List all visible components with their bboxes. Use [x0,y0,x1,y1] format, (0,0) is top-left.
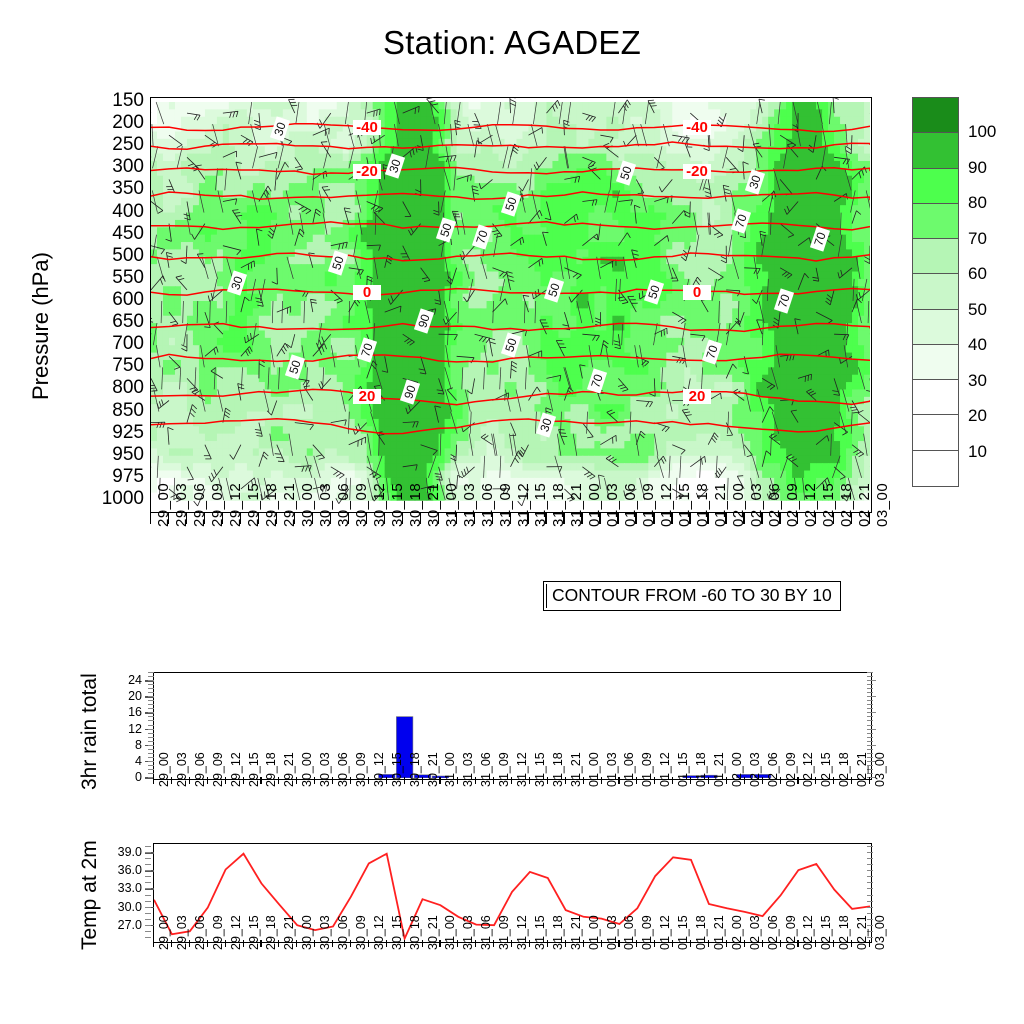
axis-minor-tick [867,749,873,750]
time-tick-label: 30_09 [355,752,368,787]
axis-minor-tick [145,858,151,859]
axis-minor-tick [148,729,154,730]
axis-tick [581,513,582,524]
axis-tick [815,777,816,784]
time-tick-label: 29_21 [283,752,296,787]
pressure-tick-label: 800 [72,378,144,397]
pressure-tick-label: 550 [72,268,144,287]
time-tick-label: 29_06 [194,915,207,950]
axis-tick [438,513,439,524]
time-tick-label: 31_06 [480,752,493,787]
time-tick-label: 02_21 [856,752,869,787]
time-tick-label: 01_00 [588,915,601,950]
time-tick-label: 29_12 [230,752,243,787]
time-tick-label: 29_21 [283,915,296,950]
axis-minor-tick [145,931,151,932]
axis-minor-tick [148,704,154,705]
axis-tick [294,513,295,524]
axis-tick [529,940,530,947]
axis-tick [689,513,690,524]
time-tick-label: 29_00 [158,915,171,950]
axis-tick [815,513,816,524]
colorbar-band [913,98,958,133]
axis-tick [833,513,834,524]
axis-tick [260,940,261,947]
axis-minor-tick [148,769,154,770]
time-tick-label: 03_00 [874,752,887,787]
axis-tick [493,777,494,784]
axis-tick [833,777,834,784]
axis-tick [851,777,852,784]
time-tick-label: 31_12 [516,915,529,950]
time-tick-label: 29_03 [176,915,189,950]
colorbar [912,97,959,487]
axis-tick [404,940,405,947]
axis-tick [529,777,530,784]
axis-tick [690,777,691,784]
axis-tick [457,940,458,947]
time-tick-label: 29_18 [265,915,278,950]
time-tick-label: 01_00 [588,752,601,787]
axis-minor-tick [867,913,873,914]
axis-tick [243,777,244,784]
axis-minor-tick [867,725,873,726]
axis-minor-tick [867,882,873,883]
axis-minor-tick [867,864,873,865]
time-tick-label: 30_15 [391,915,404,950]
axis-tick [672,777,673,784]
time-tick-label: 01_21 [713,752,726,787]
time-tick-label: 30_12 [373,915,386,950]
colorbar-tick-label: 40 [968,335,987,355]
time-tick-label: 30_21 [427,915,440,950]
axis-minor-tick [867,888,873,889]
chart-page: Station: AGADEZ -40-40-20-20002020303050… [0,0,1024,1024]
axis-minor-tick [148,733,154,734]
time-tick-label: 31_21 [570,915,583,950]
axis-tick [545,513,546,524]
axis-tick [510,513,511,524]
time-tick-label: 29_03 [176,752,189,787]
axis-tick [278,940,279,947]
time-tick-label: 02_03 [749,752,762,787]
time-tick-label: 31_00 [444,915,457,950]
rain-tick-label: 8 [108,739,142,752]
sounding-panel: -40-40-20-200020203030505030305050505070… [150,97,872,513]
time-tick-label: 30_06 [337,915,350,950]
axis-minor-tick [867,745,876,746]
axis-tick [762,940,763,947]
time-tick-label: 31_00 [444,752,457,787]
axis-tick [797,777,798,784]
axis-tick [384,513,385,524]
pressure-tick-label: 250 [72,135,144,154]
axis-tick [240,513,241,524]
time-tick-label: 02_09 [785,752,798,787]
time-tick-label: 01_09 [641,752,654,787]
axis-tick [386,777,387,784]
axis-minor-tick [148,680,154,681]
axis-tick [171,777,172,784]
axis-minor-tick [148,745,154,746]
axis-minor-tick [867,870,873,871]
axis-tick [653,513,654,524]
contour-caption: CONTOUR FROM -60 TO 30 BY 10 [543,581,841,611]
time-tick-label: 31_06 [480,915,493,950]
axis-minor-tick [145,895,151,896]
time-tick-label: 31_09 [498,752,511,787]
axis-tick [207,940,208,947]
axis-tick [708,777,709,784]
axis-tick [635,513,636,524]
axis-tick [386,940,387,947]
time-tick-label: 29_06 [194,752,207,787]
axis-tick [744,940,745,947]
axis-tick [276,513,277,524]
temp-tick-label: 33.0 [94,882,142,895]
axis-minor-tick [867,741,873,742]
axis-tick [851,513,852,524]
axis-tick [314,940,315,947]
pressure-axis-title: Pressure (hPa) [28,252,54,400]
axis-tick [296,777,297,784]
axis-minor-tick [145,888,151,889]
axis-tick [780,777,781,784]
axis-tick [439,940,440,947]
axis-tick [547,940,548,947]
time-tick-label: 01_15 [677,752,690,787]
axis-tick [350,777,351,784]
axis-minor-tick [867,852,873,853]
axis-tick [368,777,369,784]
axis-minor-tick [145,919,151,920]
pressure-tick-label: 1000 [72,489,144,508]
axis-minor-tick [145,925,151,926]
axis-tick [330,513,331,524]
axis-minor-tick [867,696,876,697]
time-tick-label: 01_18 [695,915,708,950]
axis-tick [744,777,745,784]
axis-tick [368,940,369,947]
axis-minor-tick [145,864,151,865]
axis-minor-tick [145,913,151,914]
axis-tick [456,513,457,524]
axis-tick [258,513,259,524]
colorbar-band [913,204,958,239]
pressure-tick-label: 750 [72,356,144,375]
time-tick-label: 02_03 [749,915,762,950]
colorbar-tick-label: 50 [968,300,987,320]
axis-tick [475,777,476,784]
axis-tick [565,940,566,947]
axis-tick [779,513,780,524]
axis-tick [690,940,691,947]
axis-minor-tick [867,907,873,908]
axis-tick [672,940,673,947]
axis-minor-tick [867,733,873,734]
axis-minor-tick [148,737,154,738]
axis-tick [332,777,333,784]
axis-tick [366,513,367,524]
axis-minor-tick [867,846,873,847]
axis-tick [618,777,619,784]
pressure-tick-label: 450 [72,224,144,243]
axis-minor-tick [148,725,154,726]
pressure-tick-label: 975 [72,467,144,486]
time-tick-label: 30_15 [391,752,404,787]
axis-tick [527,513,528,524]
axis-minor-tick [148,749,154,750]
axis-tick [726,940,727,947]
axis-minor-tick [148,741,154,742]
axis-tick [312,513,313,524]
time-tick-label: 01_12 [659,752,672,787]
colorbar-tick-label: 20 [968,406,987,426]
time-tick-label: 30_03 [319,752,332,787]
axis-minor-tick [148,692,154,693]
axis-tick [278,777,279,784]
axis-minor-tick [145,846,151,847]
axis-tick [654,777,655,784]
time-tick-label: 31_21 [570,752,583,787]
axis-minor-tick [148,753,154,754]
axis-minor-tick [148,676,154,677]
axis-tick [153,940,154,947]
colorbar-tick-label: 90 [968,158,987,178]
rain-bar-chart [154,673,870,778]
time-tick-label: 31_03 [462,915,475,950]
time-tick-label: 30_18 [409,915,422,950]
axis-minor-tick [867,700,873,701]
axis-tick [204,513,205,524]
time-tick-label: 31_18 [552,915,565,950]
time-tick-label: 29_15 [248,752,261,787]
time-tick-label: 02_12 [802,752,815,787]
axis-tick [511,940,512,947]
time-tick-label: 02_21 [856,915,869,950]
pressure-tick-label: 500 [72,246,144,265]
axis-minor-tick [145,870,151,871]
axis-tick [150,513,151,524]
axis-minor-tick [148,720,154,721]
time-tick-label: 03_00 [874,915,887,950]
colorbar-tick-label: 30 [968,371,987,391]
colorbar-band [913,345,958,380]
time-tick-label: 02_00 [731,752,744,787]
axis-minor-tick [145,882,151,883]
axis-tick [402,513,403,524]
axis-tick [565,777,566,784]
axis-tick [618,940,619,947]
axis-tick [260,777,261,784]
time-tick-label: 31_03 [462,752,475,787]
axis-tick [225,777,226,784]
axis-minor-tick [148,757,154,758]
axis-tick [404,777,405,784]
axis-tick [296,940,297,947]
time-tick-label: 01_03 [606,752,619,787]
colorbar-band [913,310,958,345]
axis-minor-tick [148,773,154,774]
time-tick-label: 01_15 [677,915,690,950]
axis-tick [422,777,423,784]
axis-tick [815,940,816,947]
time-tick-label: 29_12 [230,915,243,950]
axis-minor-tick [148,700,154,701]
time-tick-label: 29_15 [248,915,261,950]
pressure-tick-label: 925 [72,423,144,442]
colorbar-band [913,239,958,274]
time-tick-label: 01_21 [713,915,726,950]
axis-minor-tick [867,704,873,705]
axis-tick [511,777,512,784]
temp-line-chart [154,844,870,941]
time-tick-label: 01_03 [606,915,619,950]
axis-minor-tick [867,692,873,693]
pressure-tick-label: 600 [72,290,144,309]
axis-tick [869,513,870,524]
colorbar-tick-label: 60 [968,264,987,284]
axis-tick [601,940,602,947]
axis-minor-tick [148,672,154,673]
axis-tick [439,777,440,784]
time-tick-label: 29_18 [265,752,278,787]
pressure-tick-label: 350 [72,179,144,198]
rain-tick-label: 24 [108,674,142,687]
axis-tick [563,513,564,524]
rain-tick-label: 12 [108,723,142,736]
axis-tick [189,940,190,947]
axis-minor-tick [145,876,151,877]
colorbar-tick-label: 100 [968,122,996,142]
axis-minor-tick [867,737,873,738]
axis-tick [743,513,744,524]
axis-tick [207,777,208,784]
time-tick-label: 30_12 [373,752,386,787]
axis-tick [725,513,726,524]
axis-tick [422,940,423,947]
time-tick-label: 29_09 [212,915,225,950]
axis-minor-tick [867,876,873,877]
pressure-tick-label: 950 [72,445,144,464]
axis-minor-tick [148,712,154,713]
axis-minor-tick [145,901,151,902]
colorbar-band [913,451,958,486]
axis-minor-tick [867,676,873,677]
time-tick-label: 31_15 [534,752,547,787]
time-tick-label: 31_18 [552,752,565,787]
time-tick-label: 02_06 [767,915,780,950]
axis-tick [332,940,333,947]
axis-minor-tick [148,708,154,709]
axis-tick [243,940,244,947]
axis-tick [225,940,226,947]
rain-tick-label: 4 [108,755,142,768]
temp-tick-label: 36.0 [94,864,142,877]
axis-minor-tick [148,688,154,689]
axis-tick [314,777,315,784]
axis-minor-tick [867,680,876,681]
time-tick-label: 01_12 [659,915,672,950]
axis-minor-tick [867,712,876,713]
pressure-tick-label: 150 [72,91,144,110]
axis-minor-tick [145,907,151,908]
axis-tick [583,777,584,784]
pressure-tick-label: 650 [72,312,144,331]
axis-minor-tick [148,765,154,766]
time-tick-label: 02_15 [820,752,833,787]
axis-tick [869,777,870,784]
time-tick-label: 02_18 [838,915,851,950]
time-tick-label: 02_18 [838,752,851,787]
temp-tick-label: 39.0 [94,846,142,859]
time-tick-label: 01_18 [695,752,708,787]
axis-tick [654,940,655,947]
axis-tick [153,777,154,784]
axis-tick [599,513,600,524]
time-tick-label: 29_00 [158,752,171,787]
time-tick-label: 29_09 [212,752,225,787]
axis-tick [636,940,637,947]
axis-minor-tick [148,684,154,685]
pressure-tick-label: 850 [72,401,144,420]
axis-tick [350,940,351,947]
axis-tick [851,940,852,947]
pressure-tick-label: 300 [72,157,144,176]
time-tick-label: 30_00 [301,752,314,787]
time-tick-label: 02_12 [802,915,815,950]
axis-minor-tick [867,716,873,717]
time-tick-label: 31_12 [516,752,529,787]
axis-minor-tick [867,684,873,685]
axis-tick [671,513,672,524]
colorbar-tick-label: 80 [968,193,987,213]
axis-tick [726,777,727,784]
axis-minor-tick [148,716,154,717]
sounding-plot: -40-40-20-200020203030505030305050505070… [151,98,870,511]
colorbar-band [913,274,958,309]
time-tick-label: 02_15 [820,915,833,950]
axis-tick [761,513,762,524]
axis-tick [780,940,781,947]
axis-tick [189,777,190,784]
axis-tick [797,513,798,524]
temp-line [154,854,870,939]
rain-tick-label: 0 [108,771,142,784]
axis-tick [222,513,223,524]
time-tick-label: 01_09 [641,915,654,950]
axis-minor-tick [867,672,873,673]
axis-minor-tick [148,761,154,762]
time-tick-label: 30_09 [355,915,368,950]
axis-tick [547,777,548,784]
axis-minor-tick [867,688,873,689]
pressure-tick-label: 200 [72,113,144,132]
time-tick-label: 30_00 [301,915,314,950]
time-tick-label: 30_03 [319,915,332,950]
axis-minor-tick [148,696,154,697]
pressure-tick-label: 400 [72,202,144,221]
temp-tick-label: 30.0 [94,901,142,914]
page-title: Station: AGADEZ [0,24,1024,62]
axis-tick [171,940,172,947]
axis-tick [457,777,458,784]
axis-tick [348,513,349,524]
axis-minor-tick [867,708,873,709]
axis-tick [186,513,187,524]
colorbar-tick-label: 70 [968,229,987,249]
colorbar-band [913,169,958,204]
